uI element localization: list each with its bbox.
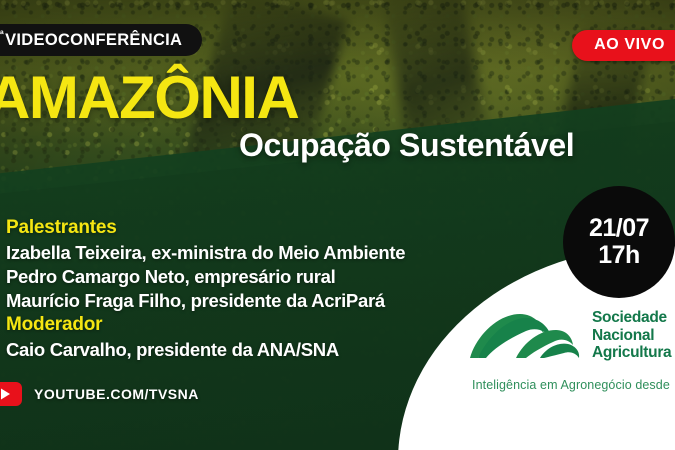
event-poster: ª VIDEOCONFERÊNCIA AO VIVO AMAZÔNIA Ocup… — [0, 0, 675, 450]
videoconference-kicker-pill: ª VIDEOCONFERÊNCIA — [0, 24, 202, 56]
event-date: 21/07 — [589, 215, 649, 241]
sna-word-line-1: Sociedade — [592, 309, 671, 327]
ordinal-suffix: ª — [0, 30, 4, 41]
sna-word-line-2: Nacional — [592, 327, 671, 345]
event-time: 17h — [598, 241, 640, 270]
kicker-label: VIDEOCONFERÊNCIA — [5, 31, 182, 50]
speakers-heading: Palestrantes — [6, 216, 405, 241]
event-subtitle: Ocupação Sustentável — [239, 129, 574, 161]
speakers-block: Palestrantes Izabella Teixeira, ex-minis… — [6, 216, 405, 362]
live-badge: AO VIVO — [572, 30, 675, 61]
moderator-heading: Moderador — [6, 313, 405, 338]
youtube-url-label: YOUTUBE.COM/TVSNA — [34, 386, 199, 402]
moderator-name: Caio Carvalho, presidente da ANA/SNA — [6, 338, 405, 362]
sna-wordmark: Sociedade Nacional Agricultura — [592, 309, 671, 362]
sna-leaf-wave-mark — [468, 300, 588, 370]
sna-logo: Sociedade Nacional Agricultura — [468, 300, 671, 370]
sna-word-line-3: Agricultura — [592, 344, 671, 362]
youtube-play-icon — [0, 382, 22, 406]
event-title: AMAZÔNIA — [0, 68, 298, 128]
speaker-name: Pedro Camargo Neto, empresário rural — [6, 265, 405, 289]
sna-tagline: Inteligência em Agronegócio desde — [472, 378, 670, 392]
speaker-name: Izabella Teixeira, ex-ministra do Meio A… — [6, 241, 405, 265]
date-time-circle: 21/07 17h — [563, 186, 675, 298]
speaker-name: Maurício Fraga Filho, presidente da Acri… — [6, 289, 405, 313]
youtube-channel-row[interactable]: YOUTUBE.COM/TVSNA — [0, 382, 199, 406]
